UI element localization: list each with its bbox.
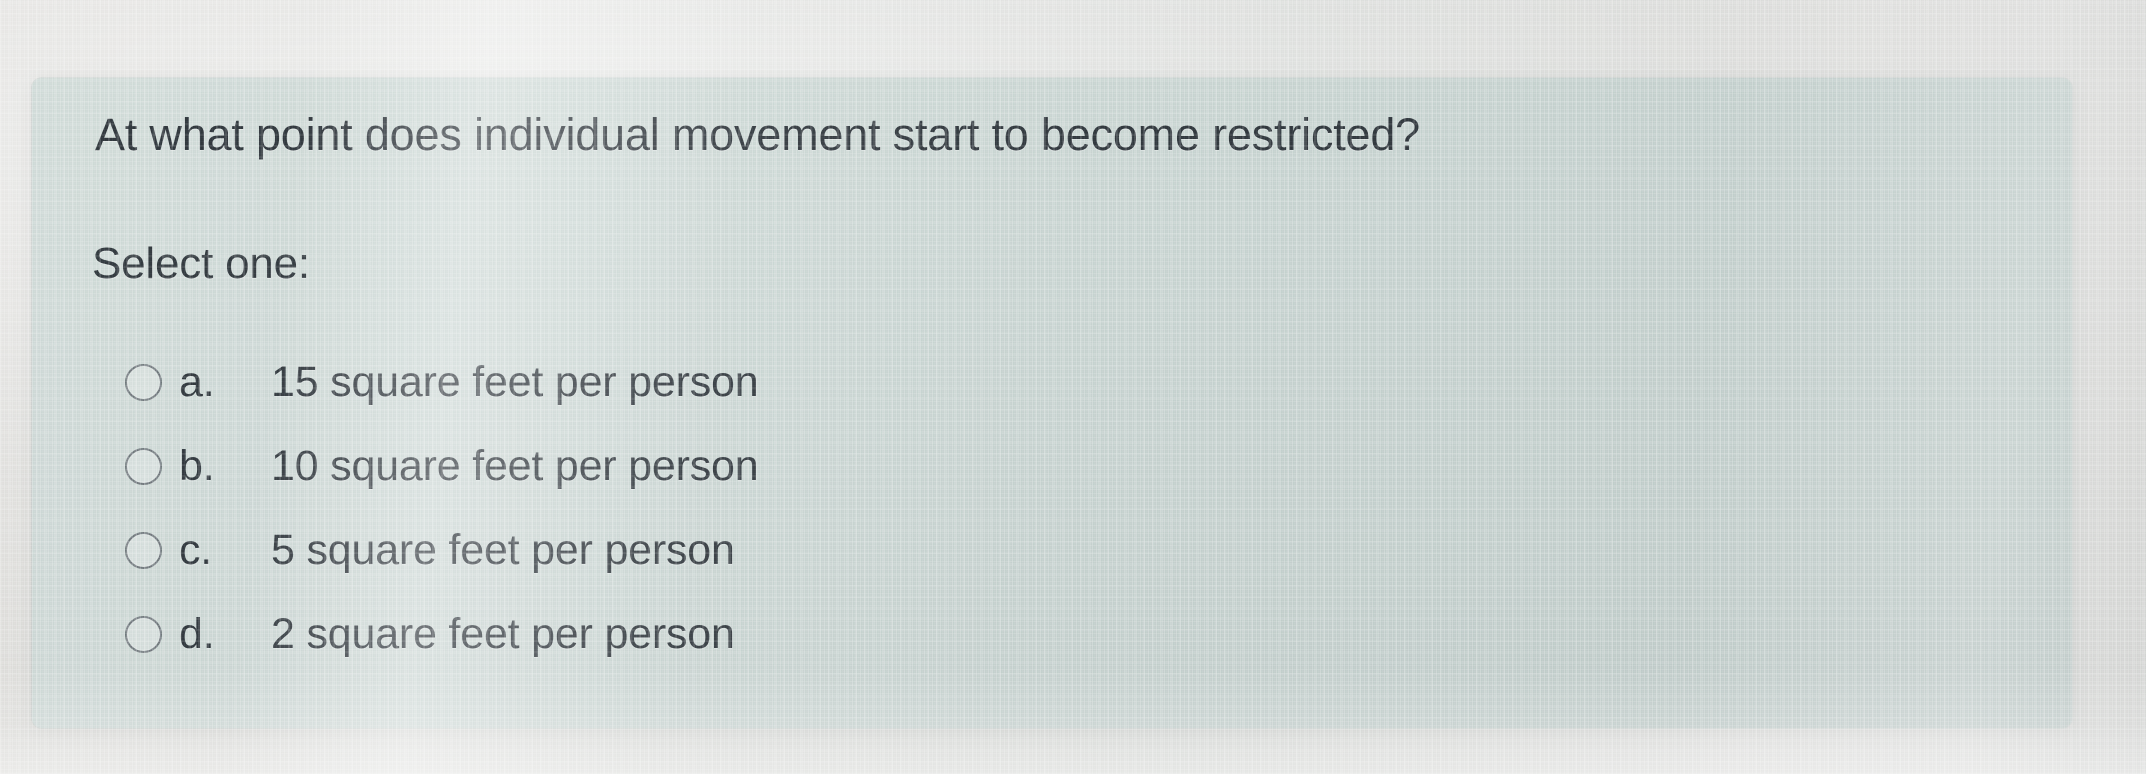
question-stem: At what point does individual movement s… — [95, 108, 1420, 162]
radio-unchecked-icon[interactable] — [125, 448, 162, 485]
answer-option-b[interactable]: b. 10 square feet per person — [0, 424, 2146, 508]
option-label: 2 square feet per person — [271, 610, 735, 658]
option-letter: b. — [179, 442, 271, 490]
option-label: 5 square feet per person — [271, 526, 735, 574]
option-letter: c. — [179, 526, 271, 574]
option-letter: a. — [179, 358, 271, 406]
radio-unchecked-icon[interactable] — [125, 364, 162, 401]
answer-options-list: a. 15 square feet per person b. 10 squar… — [0, 340, 2146, 676]
question-content: At what point does individual movement s… — [0, 0, 2146, 774]
screenshot-canvas: At what point does individual movement s… — [0, 0, 2146, 774]
radio-unchecked-icon[interactable] — [125, 616, 162, 653]
option-letter: d. — [179, 610, 271, 658]
select-one-label: Select one: — [92, 238, 310, 290]
radio-unchecked-icon[interactable] — [125, 532, 162, 569]
answer-option-c[interactable]: c. 5 square feet per person — [0, 508, 2146, 592]
option-label: 15 square feet per person — [271, 358, 758, 406]
answer-option-d[interactable]: d. 2 square feet per person — [0, 592, 2146, 676]
answer-option-a[interactable]: a. 15 square feet per person — [0, 340, 2146, 424]
option-label: 10 square feet per person — [271, 442, 758, 490]
